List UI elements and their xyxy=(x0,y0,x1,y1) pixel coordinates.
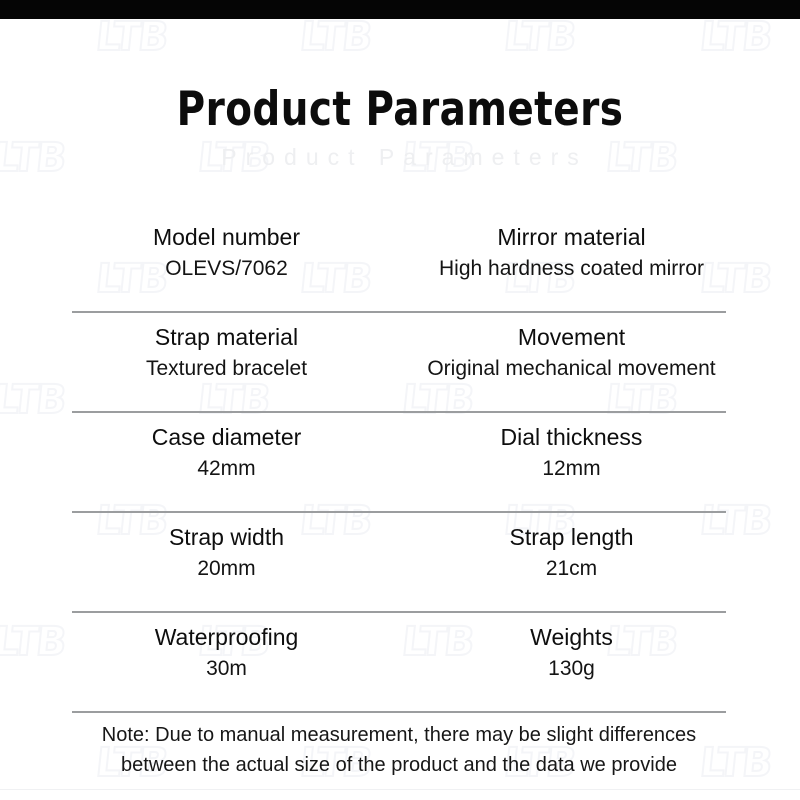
parameter-cell: Dial thickness 12mm xyxy=(399,413,726,513)
parameter-value: Textured bracelet xyxy=(72,354,381,384)
parameter-cell: Mirror material High hardness coated mir… xyxy=(399,213,726,313)
page-content: Product Parameters Product Parameters Mo… xyxy=(0,0,800,800)
page-title: Product Parameters xyxy=(32,82,768,138)
title-block: Product Parameters Product Parameters xyxy=(0,82,800,171)
top-black-bar xyxy=(0,0,800,19)
parameter-cell: Movement Original mechanical movement xyxy=(399,313,726,413)
parameter-label: Waterproofing xyxy=(72,622,381,653)
parameter-value: 42mm xyxy=(72,454,381,484)
parameter-label: Strap length xyxy=(417,522,726,553)
parameter-value: 12mm xyxy=(417,454,726,484)
table-row: Strap material Textured bracelet Movemen… xyxy=(72,313,726,413)
parameter-cell: Weights 130g xyxy=(399,613,726,713)
table-row: Waterproofing 30m Weights 130g xyxy=(72,613,726,713)
parameter-cell: Case diameter 42mm xyxy=(72,413,399,513)
parameter-label: Weights xyxy=(417,622,726,653)
product-parameters-page: LTB LTB LTB LTB LTB LTB LTB LTB LTB LTB … xyxy=(0,0,800,800)
parameter-label: Strap width xyxy=(72,522,381,553)
parameter-cell: Waterproofing 30m xyxy=(72,613,399,713)
parameter-label: Dial thickness xyxy=(417,422,726,453)
footnote-line-1: Note: Due to manual measurement, there m… xyxy=(72,720,726,750)
table-row: Model number OLEVS/7062 Mirror material … xyxy=(72,213,726,313)
footnote: Note: Due to manual measurement, there m… xyxy=(72,720,726,780)
parameter-cell: Strap length 21cm xyxy=(399,513,726,613)
parameter-table: Model number OLEVS/7062 Mirror material … xyxy=(72,213,726,713)
parameter-label: Case diameter xyxy=(72,422,381,453)
parameter-value: 21cm xyxy=(417,554,726,584)
parameter-value: Original mechanical movement xyxy=(417,354,726,384)
parameter-value: High hardness coated mirror xyxy=(417,254,726,284)
parameter-value: 20mm xyxy=(72,554,381,584)
parameter-label: Movement xyxy=(417,322,726,353)
page-subtitle: Product Parameters xyxy=(0,143,800,171)
bottom-hairline xyxy=(0,789,800,790)
parameter-cell: Model number OLEVS/7062 xyxy=(72,213,399,313)
parameter-value: OLEVS/7062 xyxy=(72,254,381,284)
parameter-label: Mirror material xyxy=(417,222,726,253)
parameter-label: Strap material xyxy=(72,322,381,353)
parameter-cell: Strap width 20mm xyxy=(72,513,399,613)
parameter-cell: Strap material Textured bracelet xyxy=(72,313,399,413)
table-row: Strap width 20mm Strap length 21cm xyxy=(72,513,726,613)
parameter-value: 130g xyxy=(417,654,726,684)
footnote-line-2: between the actual size of the product a… xyxy=(72,750,726,780)
table-row: Case diameter 42mm Dial thickness 12mm xyxy=(72,413,726,513)
parameter-label: Model number xyxy=(72,222,381,253)
parameter-value: 30m xyxy=(72,654,381,684)
